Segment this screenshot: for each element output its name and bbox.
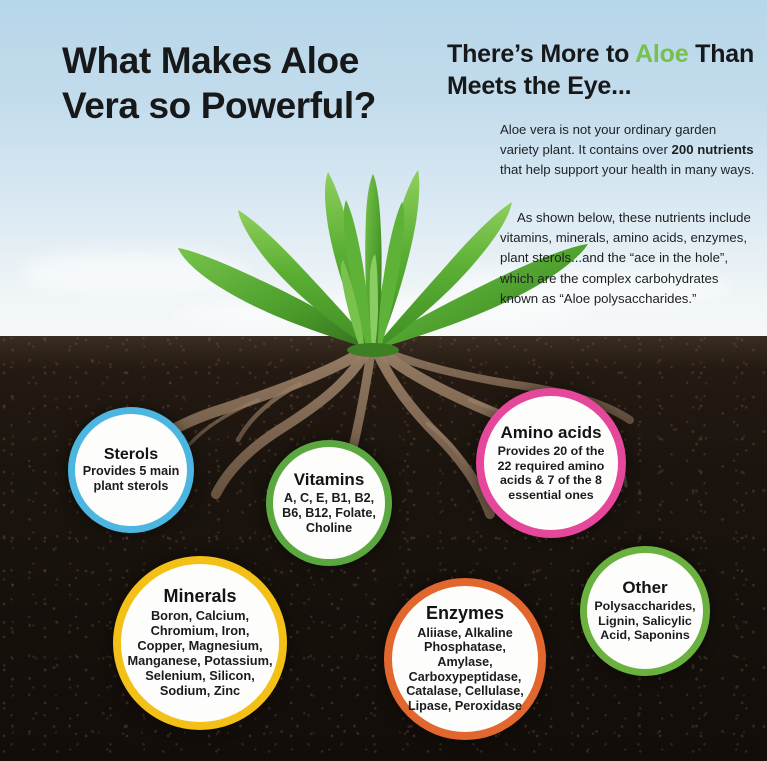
bubble-title: Minerals bbox=[163, 587, 236, 606]
description-paragraph: As shown below, these nutrients include … bbox=[500, 208, 758, 309]
secondary-title-prefix: There’s More to bbox=[447, 40, 635, 68]
nutrient-count-emphasis: 200 nutrients bbox=[672, 142, 754, 157]
bubble-title: Sterols bbox=[104, 446, 158, 463]
bubble-description: Polysaccharides, Lignin, Salicylic Acid,… bbox=[587, 599, 703, 643]
nutrient-bubble-other[interactable]: Other Polysaccharides, Lignin, Salicylic… bbox=[580, 546, 710, 676]
bubble-title: Enzymes bbox=[426, 604, 504, 623]
nutrient-bubble-enzymes[interactable]: Enzymes Aliiase, Alkaline Phosphatase, A… bbox=[384, 578, 546, 740]
bubble-description: A, C, E, B1, B2, B6, B12, Folate, Cholin… bbox=[273, 491, 385, 535]
bubble-title: Other bbox=[622, 579, 667, 597]
bubble-title: Amino acids bbox=[500, 424, 601, 442]
intro-text-after: that help support your health in many wa… bbox=[500, 162, 754, 177]
page-title: What Makes Aloe Vera so Powerful? bbox=[62, 38, 402, 128]
bubble-description: Provides 5 main plant sterols bbox=[75, 464, 187, 493]
nutrient-bubble-minerals[interactable]: Minerals Boron, Calcium, Chromium, Iron,… bbox=[113, 556, 287, 730]
nutrient-bubble-amino-acids[interactable]: Amino acids Provides 20 of the 22 requir… bbox=[476, 388, 626, 538]
secondary-title: There’s More to Aloe Than Meets the Eye.… bbox=[447, 38, 759, 102]
bubble-description: Provides 20 of the 22 required amino aci… bbox=[484, 444, 618, 502]
intro-paragraph: Aloe vera is not your ordinary garden va… bbox=[500, 120, 758, 181]
bubble-description: Boron, Calcium, Chromium, Iron, Copper, … bbox=[121, 609, 279, 699]
bubble-description: Aliiase, Alkaline Phosphatase, Amylase, … bbox=[392, 626, 538, 714]
infographic-poster: What Makes Aloe Vera so Powerful? There’… bbox=[0, 0, 767, 761]
bubble-title: Vitamins bbox=[294, 471, 365, 489]
nutrient-bubble-sterols[interactable]: Sterols Provides 5 main plant sterols bbox=[68, 407, 194, 533]
secondary-title-accent: Aloe bbox=[635, 40, 688, 68]
nutrient-bubble-vitamins[interactable]: Vitamins A, C, E, B1, B2, B6, B12, Folat… bbox=[266, 440, 392, 566]
